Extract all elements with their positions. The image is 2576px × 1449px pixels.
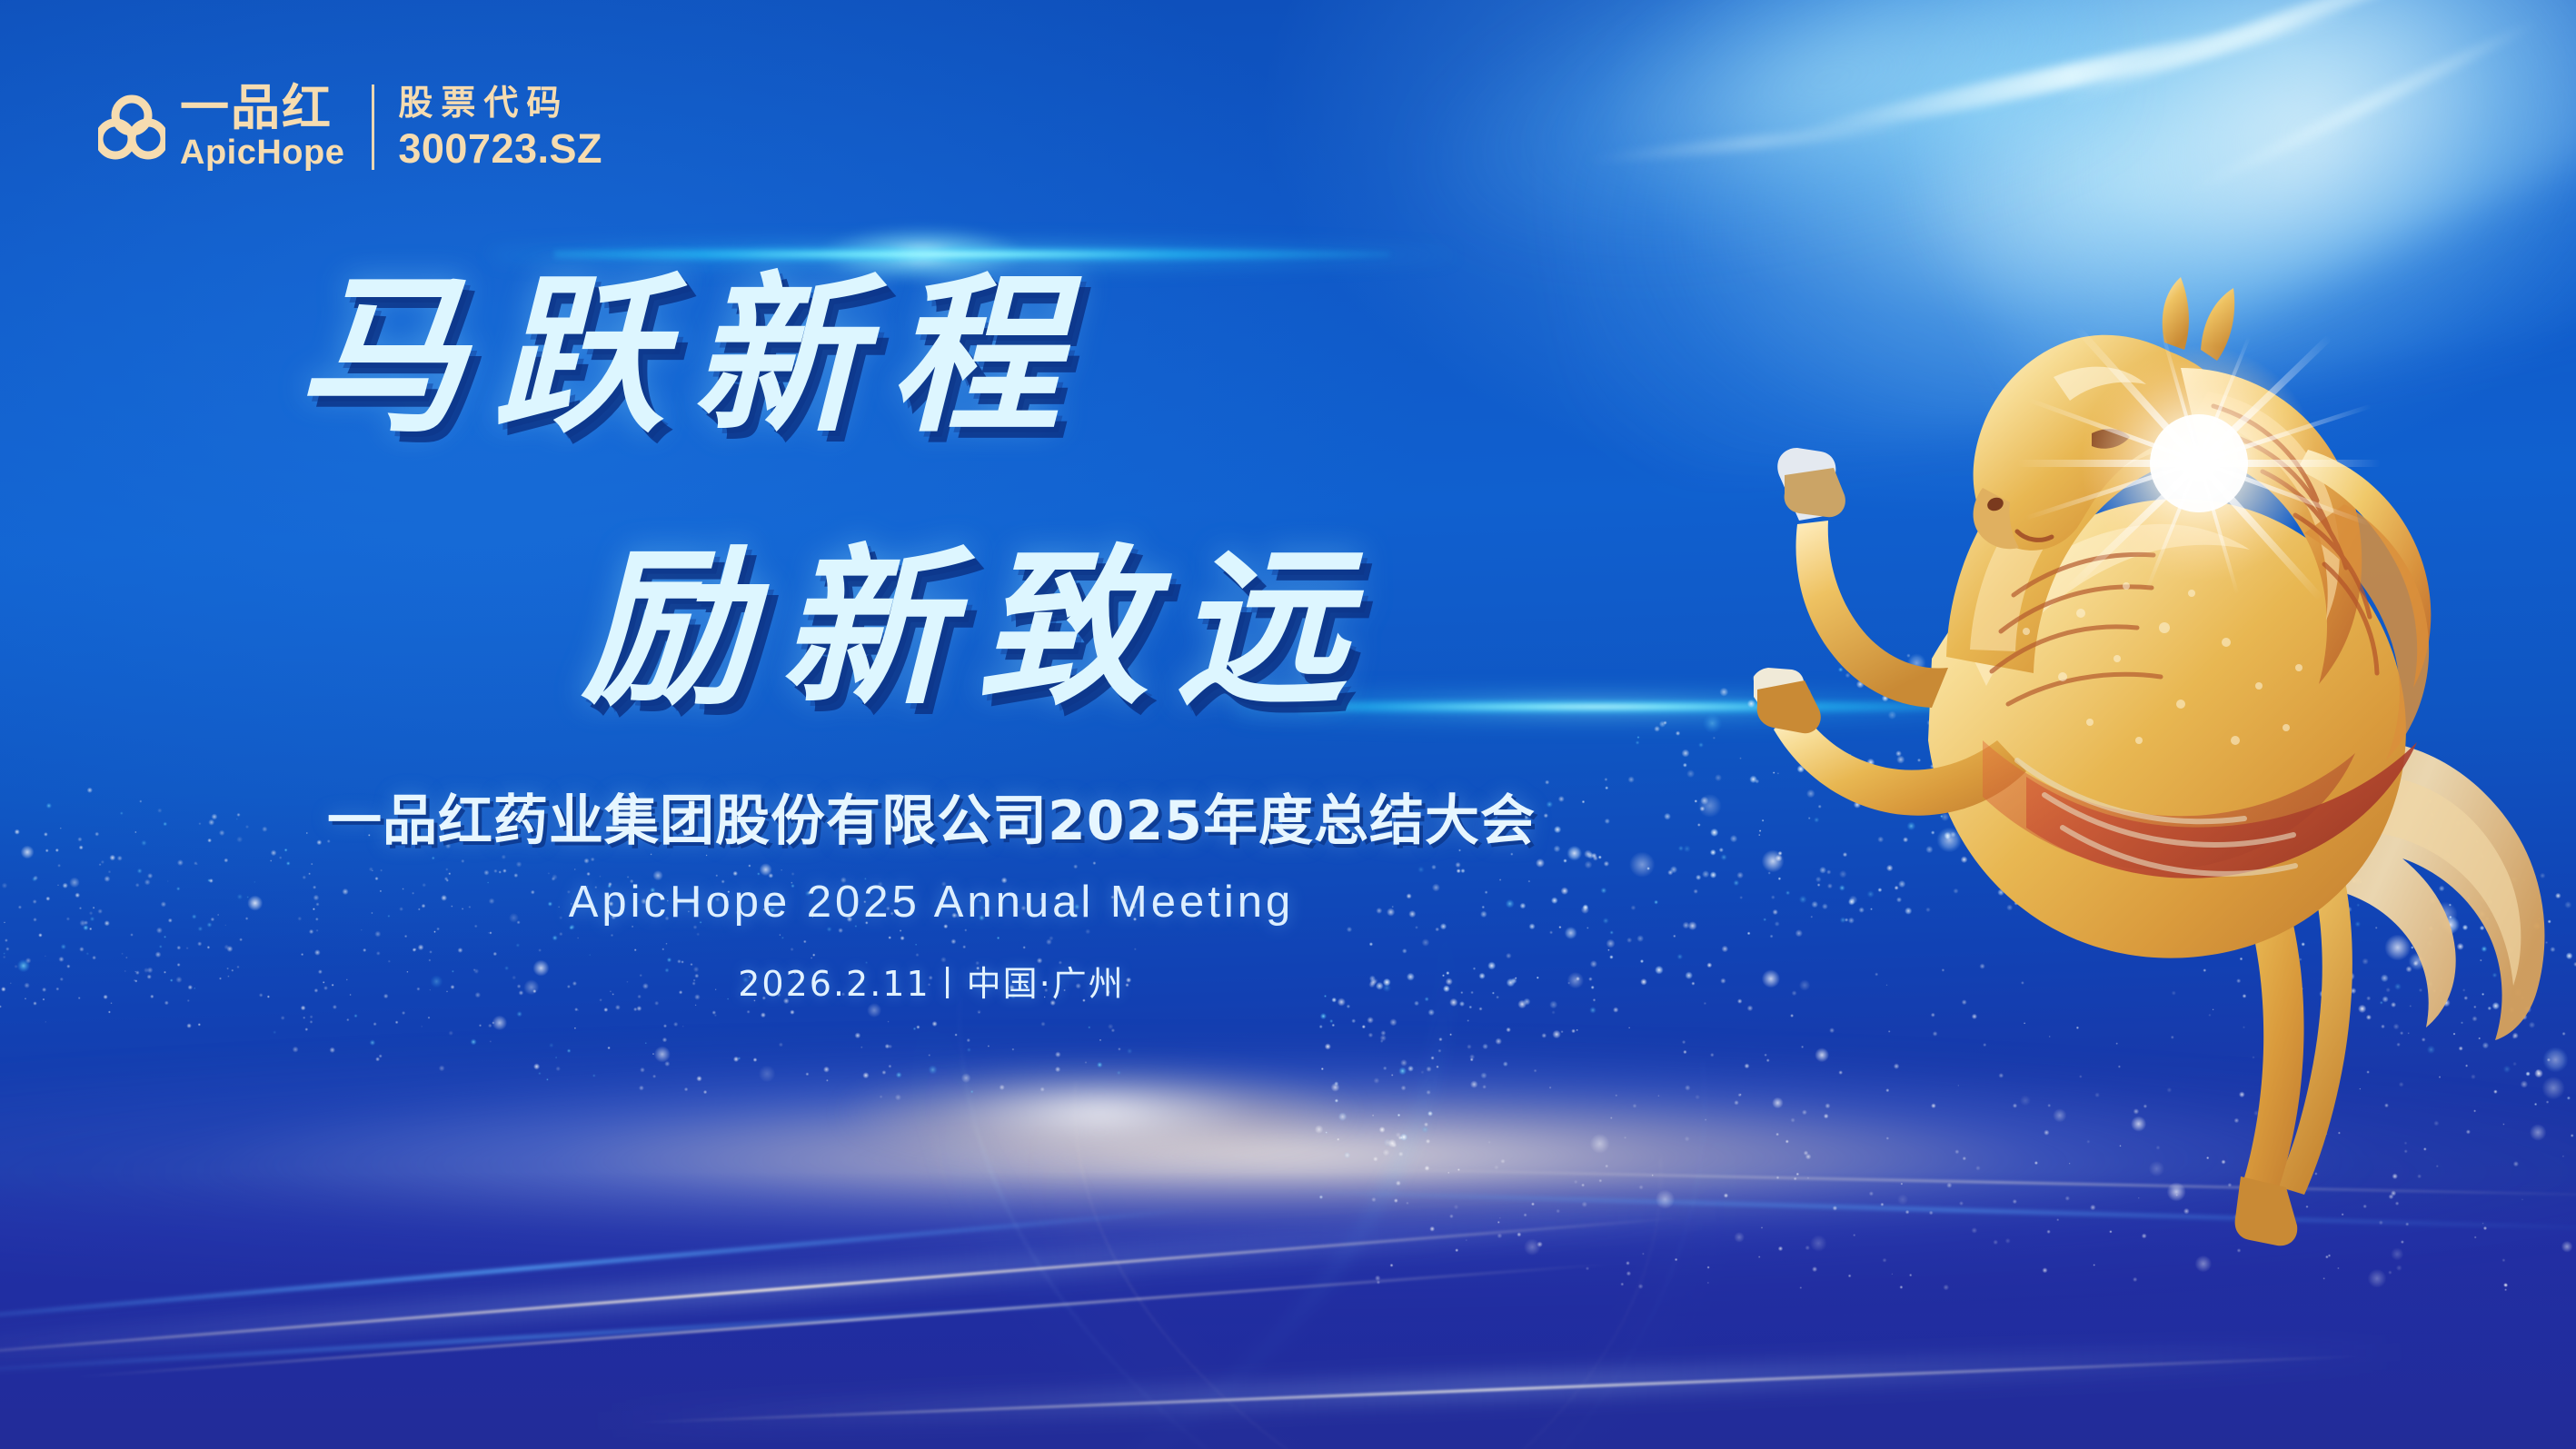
subtitle-en: ApicHope 2025 Annual Meeting [282, 877, 1581, 928]
brand-name-cn: 一品红 [180, 84, 344, 133]
golden-horse-illustration [1754, 232, 2553, 1258]
event-banner: 一品红 ApicHope 股票代码 300723.SZ 马跃新程 励新致远 一品… [0, 0, 2576, 1449]
stock-info: 股票代码 300723.SZ [398, 84, 602, 171]
headline-line-2: 励新致远 [582, 491, 1374, 738]
brand-wordmark: 一品红 ApicHope [180, 84, 344, 172]
date-location: 2026.2.11丨中国·广州 [282, 956, 1581, 1006]
stock-label: 股票代码 [398, 84, 602, 123]
brand-logo: 一品红 ApicHope 股票代码 300723.SZ [98, 84, 602, 172]
brand-name-en: ApicHope [180, 135, 344, 172]
headline-line-1: 马跃新程 [295, 218, 1088, 465]
three-rings-icon [98, 94, 165, 160]
logo-divider [372, 84, 374, 170]
stock-code: 300723.SZ [398, 126, 602, 172]
subtitle-cn: 一品红药业集团股份有限公司2025年度总结大会 [282, 777, 1581, 856]
